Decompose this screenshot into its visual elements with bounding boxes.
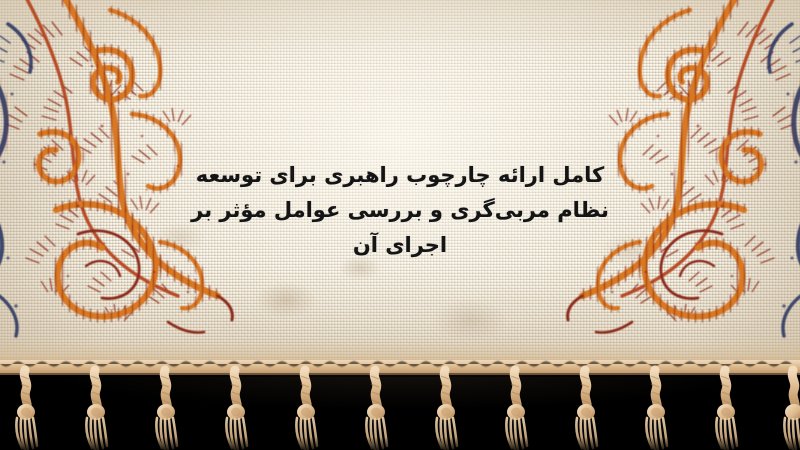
title-line-2: نظام مربی‌گری و بررسی عوامل مؤثر بر (185, 193, 615, 228)
title-line-1: کامل ارائه چارچوب راهبری برای توسعه (185, 158, 615, 193)
black-background-ground (0, 368, 800, 450)
slide-canvas: کامل ارائه چارچوب راهبری برای توسعه نظام… (0, 0, 800, 450)
title-line-3: اجرای آن (185, 228, 615, 263)
slide-title: کامل ارائه چارچوب راهبری برای توسعه نظام… (185, 158, 615, 263)
